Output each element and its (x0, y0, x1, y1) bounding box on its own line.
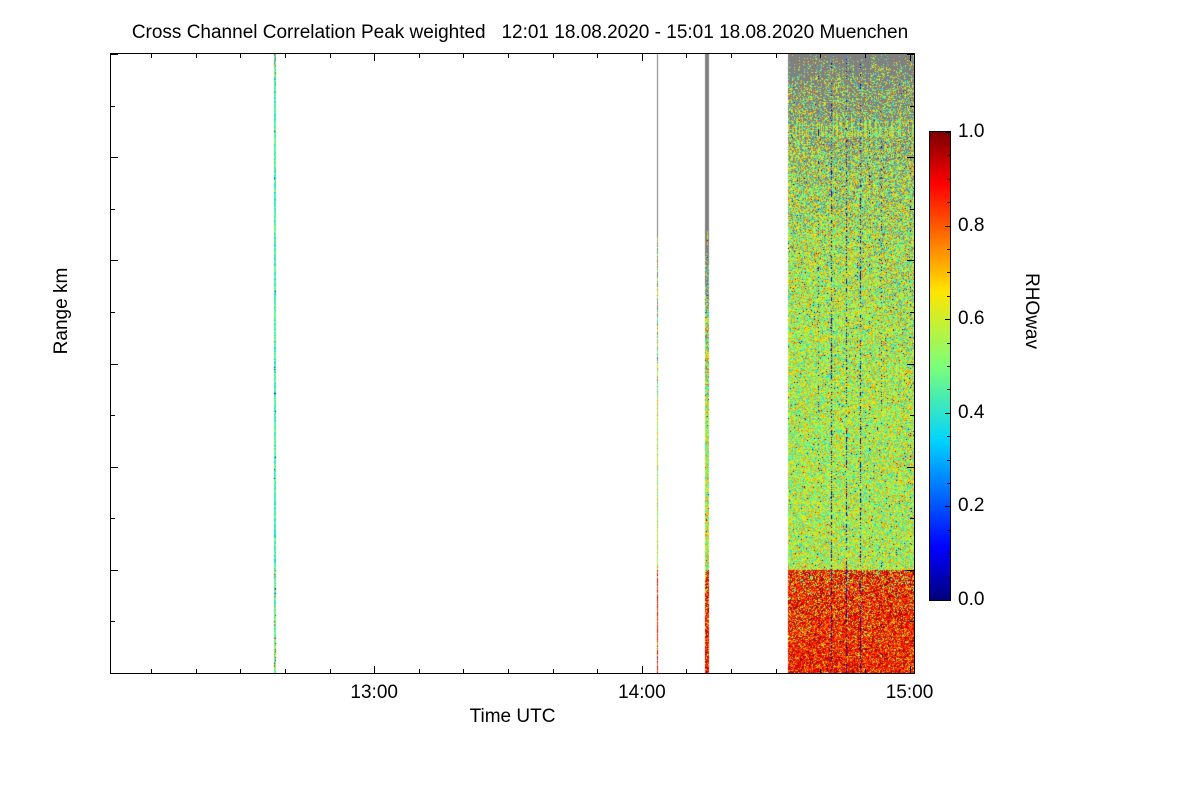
y-tickmark (111, 673, 118, 674)
x-tick-label: 13:00 (350, 682, 398, 704)
y-tickmark (111, 621, 115, 622)
y-tickmark (111, 54, 118, 55)
x-tick-label: 14:00 (618, 682, 666, 704)
x-tickmark (820, 54, 821, 58)
x-tickmark (686, 669, 687, 673)
y-axis-label: Range km (51, 231, 73, 391)
x-tickmark (151, 669, 152, 673)
y-tickmark (910, 106, 914, 107)
x-axis-label: Time UTC (110, 706, 915, 728)
x-tickmark (285, 669, 286, 673)
colorbar-tickmark (947, 577, 950, 578)
x-tickmark (330, 54, 331, 58)
x-tickmark (865, 54, 866, 58)
colorbar-tick-label: 0.8 (958, 215, 984, 237)
colorbar-tickmark (947, 179, 950, 180)
colorbar-tickmark (947, 460, 950, 461)
colorbar-tickmark (945, 506, 950, 507)
colorbar-tickmark (947, 296, 950, 297)
y-tickmark (910, 209, 914, 210)
y-tickmark (111, 518, 115, 519)
colorbar-tick-label: 0.0 (958, 589, 984, 611)
colorbar-tickmark (945, 226, 950, 227)
x-tickmark (196, 669, 197, 673)
x-tickmark (910, 54, 911, 61)
colorbar (929, 131, 951, 601)
x-tickmark (731, 54, 732, 58)
x-tickmark (419, 669, 420, 673)
x-tickmark (597, 669, 598, 673)
colorbar-tickmark (945, 132, 950, 133)
x-tickmark (419, 54, 420, 58)
x-tickmark (642, 666, 643, 673)
x-tickmark (330, 669, 331, 673)
colorbar-tickmark (945, 600, 950, 601)
x-tickmark (820, 669, 821, 673)
x-tickmark (776, 54, 777, 58)
y-tickmark (111, 467, 118, 468)
colorbar-label: RHOwav (1020, 231, 1042, 391)
y-tickmark (111, 106, 115, 107)
y-tickmark (907, 260, 914, 261)
y-tickmark (111, 364, 118, 365)
colorbar-tickmark (947, 272, 950, 273)
x-tickmark (597, 54, 598, 58)
colorbar-tick-label: 0.2 (958, 495, 984, 517)
y-tickmark (907, 673, 914, 674)
x-tickmark (151, 54, 152, 58)
colorbar-tick-label: 0.6 (958, 308, 984, 330)
x-tickmark (240, 669, 241, 673)
colorbar-tick-label: 1.0 (958, 121, 984, 143)
y-tickmark (910, 312, 914, 313)
y-tickmark (910, 621, 914, 622)
x-tickmark (642, 54, 643, 61)
x-tickmark (240, 54, 241, 58)
x-tickmark (508, 669, 509, 673)
colorbar-tickmark (947, 202, 950, 203)
colorbar-tickmark (945, 319, 950, 320)
x-tickmark (508, 54, 509, 58)
x-tickmark (865, 669, 866, 673)
x-tickmark (553, 669, 554, 673)
y-tickmark (111, 209, 115, 210)
y-tickmark (907, 364, 914, 365)
colorbar-tickmark (947, 249, 950, 250)
colorbar-tickmark (947, 155, 950, 156)
x-tickmark (374, 54, 375, 61)
x-tickmark (285, 54, 286, 58)
colorbar-tickmark (947, 389, 950, 390)
x-tickmark (196, 54, 197, 58)
x-tickmark (463, 669, 464, 673)
colorbar-tickmark (947, 343, 950, 344)
y-tickmark (907, 157, 914, 158)
y-tickmark (907, 467, 914, 468)
colorbar-tickmark (945, 413, 950, 414)
y-tickmark (910, 415, 914, 416)
figure-root: Cross Channel Correlation Peak weighted … (0, 0, 1200, 800)
colorbar-tick-label: 0.4 (958, 402, 984, 424)
colorbar-tickmark (947, 553, 950, 554)
heatmap-plot-area (110, 53, 915, 674)
y-tickmark (907, 570, 914, 571)
y-tickmark (111, 570, 118, 571)
chart-title: Cross Channel Correlation Peak weighted … (0, 22, 1040, 44)
colorbar-tickmark (947, 530, 950, 531)
y-tickmark (111, 260, 118, 261)
x-tickmark (374, 666, 375, 673)
x-tickmark (731, 669, 732, 673)
heatmap-canvas (111, 54, 914, 673)
x-tickmark (553, 54, 554, 58)
y-tickmark (910, 518, 914, 519)
x-tickmark (910, 666, 911, 673)
x-tickmark (463, 54, 464, 58)
y-tickmark (111, 312, 115, 313)
y-tickmark (111, 415, 115, 416)
colorbar-tickmark (947, 483, 950, 484)
x-tickmark (686, 54, 687, 58)
colorbar-tickmark (947, 436, 950, 437)
y-tickmark (111, 157, 118, 158)
colorbar-tickmark (947, 366, 950, 367)
x-tickmark (776, 669, 777, 673)
x-tick-label: 15:00 (886, 682, 934, 704)
